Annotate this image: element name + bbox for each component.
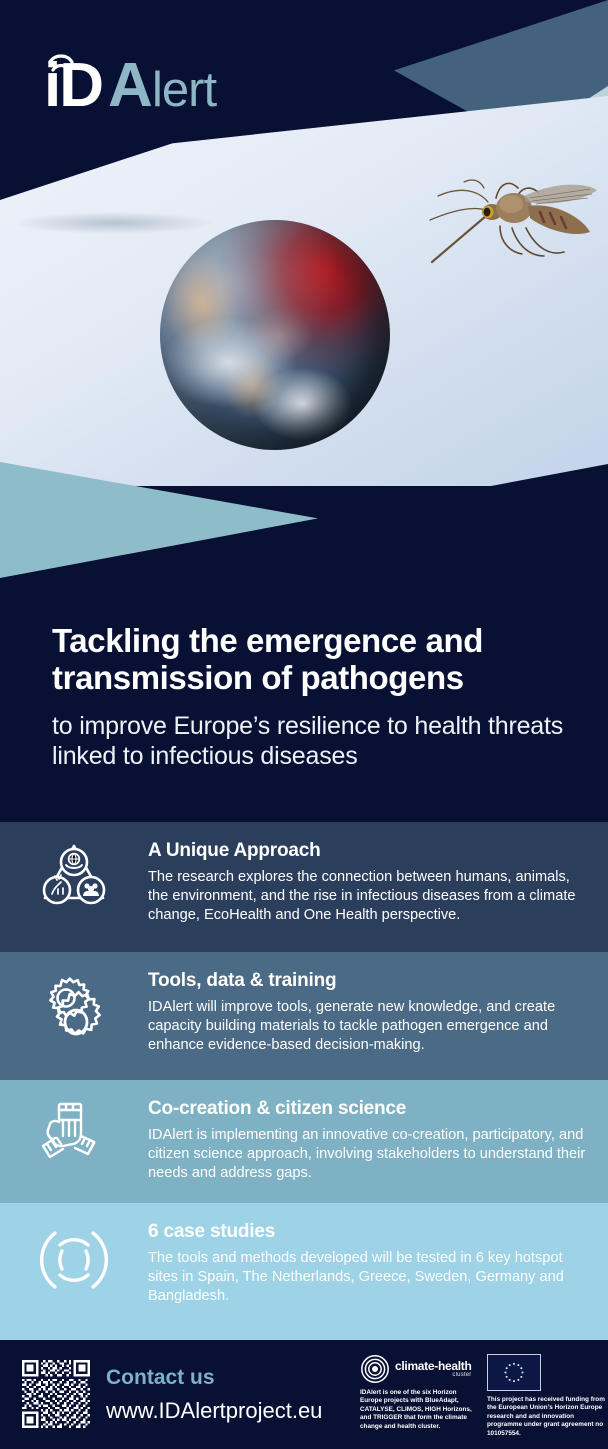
cluster-logo: climate-health cluster bbox=[360, 1354, 480, 1384]
section-a-unique-approach: A Unique Approach The research explores … bbox=[0, 822, 608, 952]
section-title: A Unique Approach bbox=[148, 840, 588, 862]
globe-shadow bbox=[14, 212, 214, 234]
cluster-name: climate-health bbox=[395, 1360, 472, 1372]
mosquito-icon bbox=[368, 176, 598, 326]
contact-us-label: Contact us bbox=[106, 1366, 215, 1390]
section-tools-data-training: Tools, data & training IDAlert will impr… bbox=[0, 952, 608, 1080]
footer: Contact us www.IDAlertproject.eu climate… bbox=[0, 1340, 608, 1449]
headline-block: Tackling the emergence and transmission … bbox=[0, 580, 608, 822]
svg-text:iD: iD bbox=[44, 51, 102, 114]
eu-flag-icon bbox=[487, 1354, 541, 1391]
section-co-creation-citizen-science: Co-creation & citizen science IDAlert is… bbox=[0, 1080, 608, 1203]
section-body: IDAlert will improve tools, generate new… bbox=[148, 998, 588, 1055]
website-link[interactable]: www.IDAlertproject.eu bbox=[106, 1398, 322, 1424]
idalert-logo[interactable]: iD A lert bbox=[44, 42, 284, 119]
earth-globe-icon bbox=[160, 220, 390, 450]
section-title: 6 case studies bbox=[148, 1221, 588, 1243]
section-6-case-studies: 6 case studies The tools and methods dev… bbox=[0, 1203, 608, 1340]
section-body: IDAlert is implementing an innovative co… bbox=[148, 1126, 588, 1183]
gears-icon bbox=[0, 952, 148, 1048]
climate-health-cluster-block: climate-health cluster IDAlert is one of… bbox=[360, 1354, 480, 1431]
section-title: Co-creation & citizen science bbox=[148, 1098, 588, 1120]
eu-funding-block: This project has received funding from t… bbox=[487, 1354, 605, 1438]
section-title: Tools, data & training bbox=[148, 970, 588, 992]
dashed-target-icon bbox=[0, 1203, 148, 1299]
eu-funding-note: This project has received funding from t… bbox=[487, 1396, 605, 1438]
svg-text:A: A bbox=[108, 51, 152, 114]
cluster-note: IDAlert is one of the six Horizon Europe… bbox=[360, 1389, 480, 1431]
svg-text:lert: lert bbox=[152, 63, 217, 114]
page-title: Tackling the emergence and transmission … bbox=[52, 622, 572, 696]
cluster-subname: cluster bbox=[395, 1372, 472, 1378]
section-body: The research explores the connection bet… bbox=[148, 868, 588, 925]
concentric-circles-icon bbox=[360, 1354, 390, 1384]
poster-root: iD A lert Tackling the emergence and tra… bbox=[0, 0, 608, 1449]
section-body: The tools and methods developed will be … bbox=[148, 1249, 588, 1306]
hand-with-cards-icon bbox=[0, 1080, 148, 1170]
hero-banner: iD A lert bbox=[0, 0, 608, 580]
qr-code-icon[interactable] bbox=[22, 1360, 90, 1428]
one-health-triad-icon bbox=[0, 822, 148, 914]
page-subtitle: to improve Europe’s resilience to health… bbox=[52, 711, 582, 771]
